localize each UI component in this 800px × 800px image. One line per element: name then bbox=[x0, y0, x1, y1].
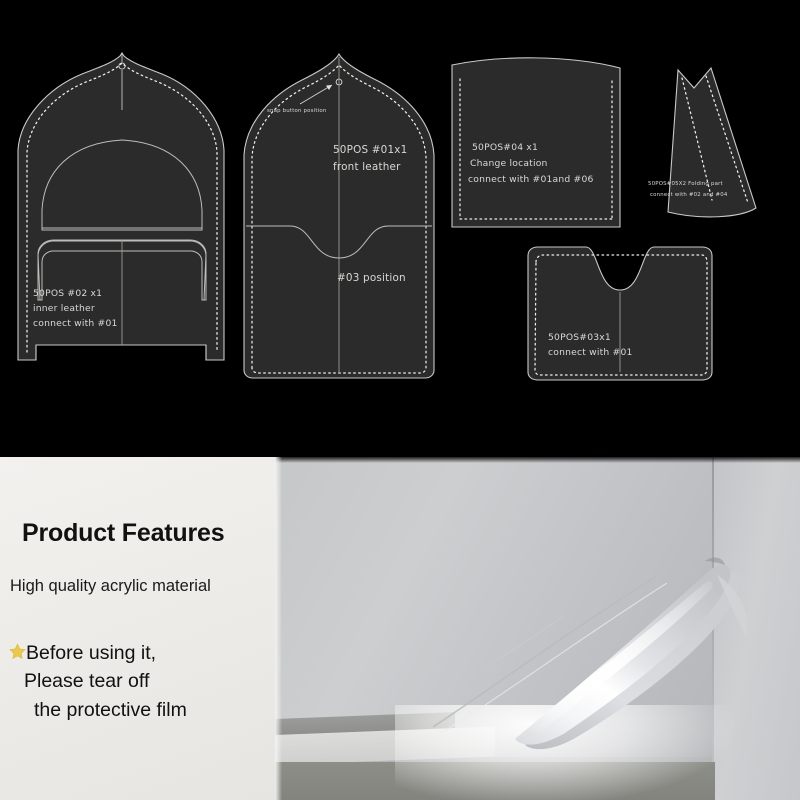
piece-03-label-line2: connect with #01 bbox=[548, 347, 633, 358]
product-features-note: Before using it, Please tear off the pro… bbox=[8, 639, 187, 724]
piece-04-label-line2: Change location bbox=[470, 158, 548, 169]
pattern-piece-01: snap button position 50POS #01x1 front l… bbox=[244, 54, 434, 378]
pattern-piece-04: 50POS#04 x1 Change location connect with… bbox=[452, 58, 620, 227]
piece-01-position-annotation: #03 position bbox=[337, 272, 406, 284]
piece-02-label-line2: inner leather bbox=[33, 303, 95, 314]
piece-01-label-line2: front leather bbox=[333, 161, 401, 173]
pattern-piece-03: 50POS#03x1 connect with #01 bbox=[528, 247, 712, 380]
product-features-panel: Product Features High quality acrylic ma… bbox=[0, 457, 275, 800]
piece-05-label-line1: 50POS#05X2 Folding part bbox=[648, 181, 723, 187]
pattern-diagram-panel: .outline{fill:#2b2b2b;stroke:#c9cac6;str… bbox=[0, 0, 800, 457]
product-listing-image: .outline{fill:#2b2b2b;stroke:#c9cac6;str… bbox=[0, 0, 800, 800]
pattern-diagram-svg: .outline{fill:#2b2b2b;stroke:#c9cac6;str… bbox=[0, 0, 800, 457]
piece-04-label-line3: connect with #01and #06 bbox=[468, 174, 594, 185]
piece-03-label-line1: 50POS#03x1 bbox=[548, 332, 611, 343]
piece-02-label-line3: connect with #01 bbox=[33, 318, 118, 329]
note-line-1: Before using it, bbox=[26, 642, 156, 664]
photo-top-fade bbox=[275, 457, 800, 463]
piece-04-label-line1: 50POS#04 x1 bbox=[472, 142, 538, 153]
piece-05-label-line2: connect with #02 and #04 bbox=[650, 192, 728, 198]
product-photo bbox=[275, 457, 800, 800]
note-line-3: the protective film bbox=[8, 696, 187, 724]
film-edge-lines bbox=[425, 575, 725, 735]
star-icon bbox=[8, 641, 27, 660]
piece-01-snap-annotation: snap button position bbox=[267, 108, 327, 114]
note-line-2: Please tear off bbox=[8, 667, 187, 695]
product-features-title: Product Features bbox=[22, 519, 224, 548]
photo-left-fade bbox=[275, 457, 282, 800]
product-features-subtitle: High quality acrylic material bbox=[10, 577, 211, 596]
piece-01-label-line1: 50POS #01x1 bbox=[333, 144, 407, 156]
pattern-piece-05: 50POS#05X2 Folding part connect with #02… bbox=[648, 68, 756, 217]
bottom-panel: Product Features High quality acrylic ma… bbox=[0, 457, 800, 800]
piece-02-label-line1: 50POS #02 x1 bbox=[33, 288, 102, 299]
pattern-piece-02: 50POS #02 x1 inner leather connect with … bbox=[18, 53, 224, 360]
